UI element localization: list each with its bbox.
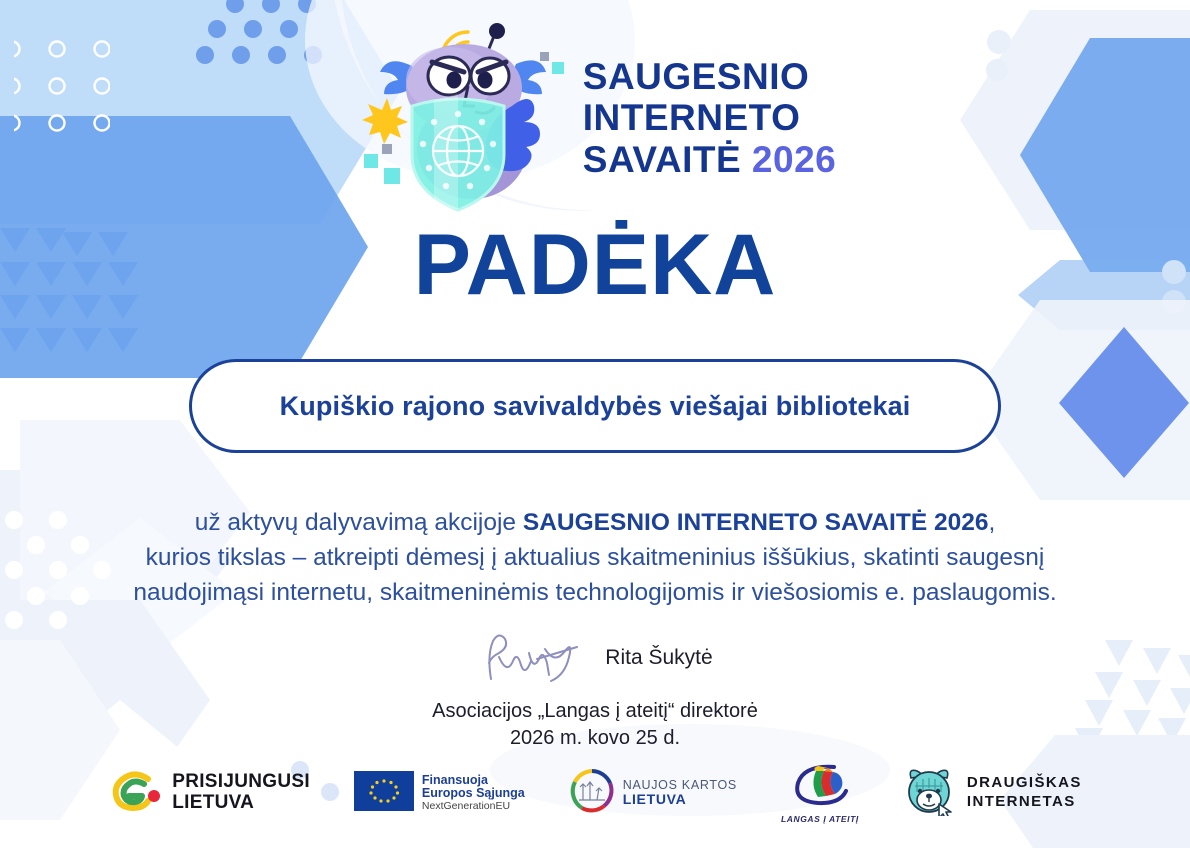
prisijungusi-lietuva-line2: LIETUVA — [172, 793, 310, 814]
safer-internet-mascot-icon — [354, 14, 569, 214]
eu-line1: Finansuoja — [422, 774, 525, 788]
signature-row: Rita Šukytė — [0, 630, 1190, 686]
campaign-year: 2026 — [752, 139, 836, 180]
prisijungusi-lietuva-line1: PRISIJUNGUSI — [172, 772, 310, 793]
draugiskas-line1: DRAUGIŠKAS — [967, 774, 1082, 793]
campaign-title-line1: SAUGESNIO — [583, 56, 836, 97]
recipient-box: Kupiškio rajono savivaldybės viešajai bi… — [189, 359, 1001, 453]
campaign-title-line2: INTERNETO — [583, 97, 836, 138]
body-line-3: naudojimąsi internetu, skaitmeninėmis te… — [60, 575, 1130, 610]
body-text: už aktyvų dalyvavimą akcijoje SAUGESNIO … — [60, 505, 1130, 610]
eu-line2: Europos Sąjunga — [422, 787, 525, 801]
signatory-name: Rita Šukytė — [605, 646, 712, 670]
campaign-title: SAUGESNIO INTERNETO SAVAITĖ 2026 — [583, 56, 836, 180]
signature-block: Rita Šukytė Asociacijos „Langas į ateitį… — [0, 630, 1190, 750]
page-title: PADĖKA — [0, 216, 1190, 315]
body-line-2: kurios tikslas – atkreipti dėmesį į aktu… — [60, 540, 1130, 575]
campaign-title-word: SAVAITĖ — [583, 139, 741, 180]
naujos-kartos-line2: LIETUVA — [623, 792, 737, 807]
naujos-kartos-line1: NAUJOS KARTOS — [623, 779, 737, 793]
starburst-icon — [362, 98, 408, 144]
logo-langas-i-ateiti: LANGAS Į ATEITĮ — [781, 763, 859, 824]
body-line-1: už aktyvų dalyvavimą akcijoje SAUGESNIO … — [60, 505, 1130, 540]
header: SAUGESNIO INTERNETO SAVAITĖ 2026 — [0, 14, 1190, 214]
logo-europos-sajunga: Finansuoja Europos Sąjunga NextGeneratio… — [354, 771, 525, 816]
langas-i-ateiti-swirl-icon — [788, 763, 852, 812]
draugiskas-line2: INTERNETAS — [967, 793, 1082, 812]
handwritten-signature-icon — [477, 631, 587, 685]
draugiskas-internetas-bear-icon — [903, 766, 959, 821]
campaign-title-line3: SAVAITĖ 2026 — [583, 139, 836, 180]
body-line-1-prefix: už aktyvų dalyvavimą akcijoje — [195, 509, 523, 536]
body-line-1-suffix: , — [988, 509, 995, 536]
body-line-1-bold: SAUGESNIO INTERNETO SAVAITĖ 2026 — [523, 509, 989, 536]
prisijungusi-lietuva-e-icon — [108, 768, 164, 819]
logo-prisijungusi-lietuva: PRISIJUNGUSI LIETUVA — [108, 768, 310, 819]
eu-flag-icon — [354, 771, 414, 816]
recipient-name: Kupiškio rajono savivaldybės viešajai bi… — [280, 391, 911, 422]
signatory-role: Asociacijos „Langas į ateitį“ direktorė — [0, 700, 1190, 723]
logo-naujos-kartos-lietuva: NAUJOS KARTOS LIETUVA — [569, 768, 737, 819]
logo-draugiskas-internetas: DRAUGIŠKAS INTERNETAS — [903, 766, 1082, 821]
certificate: SAUGESNIO INTERNETO SAVAITĖ 2026 PADĖKA … — [0, 0, 1190, 848]
naujos-kartos-lietuva-circle-icon — [569, 768, 615, 819]
langas-i-ateiti-label: LANGAS Į ATEITĮ — [781, 814, 859, 824]
footer-logos: PRISIJUNGUSI LIETUVA — [0, 758, 1190, 828]
issue-date: 2026 m. kovo 25 d. — [0, 727, 1190, 750]
eu-line3: NextGenerationEU — [422, 801, 525, 812]
